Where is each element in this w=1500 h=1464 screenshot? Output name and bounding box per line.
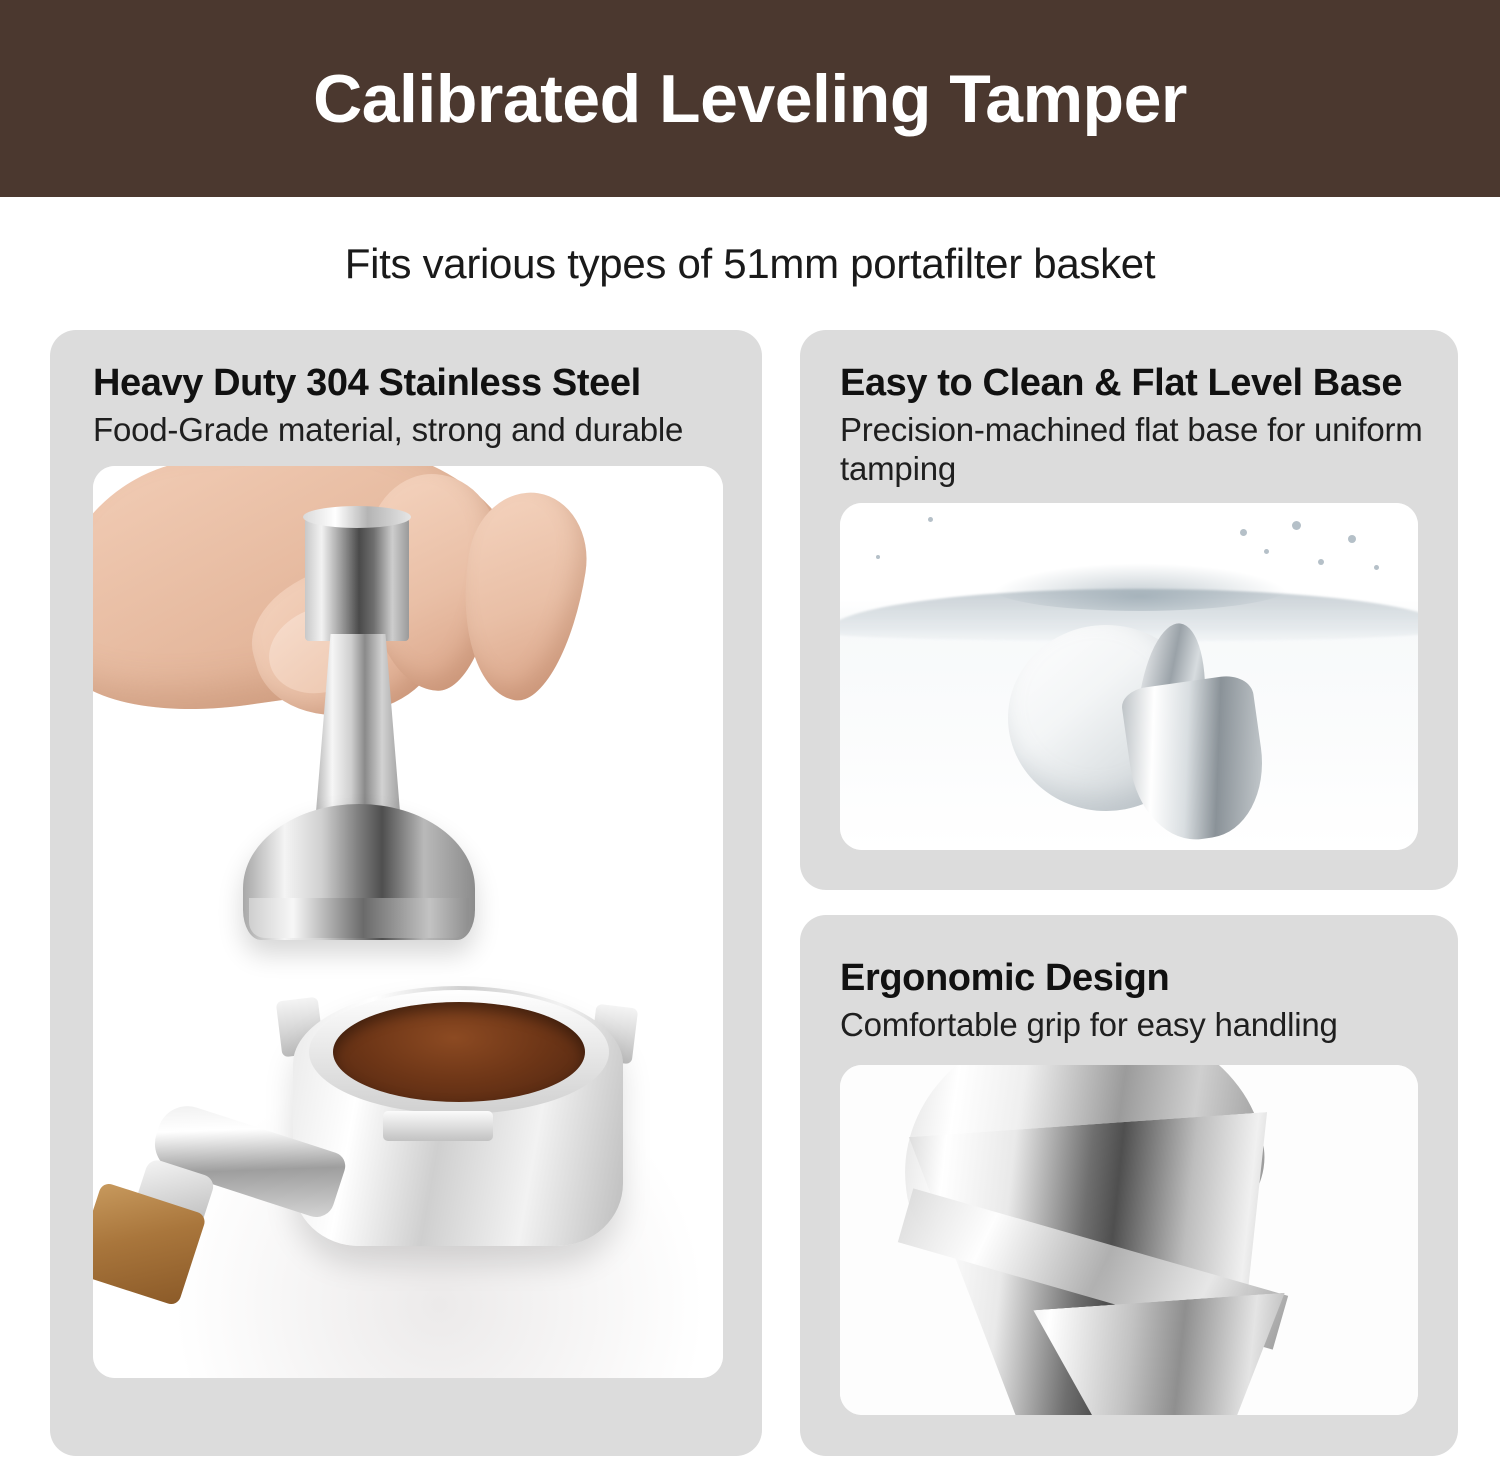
photo-scene-handle	[840, 1065, 1418, 1415]
product-photo-hand-tamper-portafilter	[93, 466, 723, 1378]
feature-card-ergonomic: Ergonomic Design Comfortable grip for ea…	[800, 915, 1458, 1456]
card-subtext: Food-Grade material, strong and durable	[93, 410, 762, 450]
water-droplet	[1318, 559, 1324, 565]
coffee-grounds	[333, 1002, 585, 1102]
portafilter-lug	[383, 1111, 493, 1141]
water-droplet	[1240, 529, 1247, 536]
water-droplet	[1292, 521, 1301, 530]
header-banner: Calibrated Leveling Tamper	[0, 0, 1500, 197]
card-heading: Heavy Duty 304 Stainless Steel	[93, 362, 762, 405]
product-photo-tamper-in-water	[840, 503, 1418, 850]
card-text-block: Easy to Clean & Flat Level Base Precisio…	[800, 330, 1458, 489]
tamper-stem-submerged	[1120, 673, 1273, 848]
product-photo-handle-closeup	[840, 1065, 1418, 1415]
water-crest	[990, 563, 1290, 611]
tamper-base	[243, 804, 475, 940]
subtitle-text: Fits various types of 51mm portafilter b…	[345, 240, 1155, 288]
card-subtext: Precision-machined flat base for uniform…	[840, 410, 1458, 489]
subtitle-row: Fits various types of 51mm portafilter b…	[0, 197, 1500, 330]
photo-scene-left	[93, 466, 723, 1378]
feature-card-heavy-duty: Heavy Duty 304 Stainless Steel Food-Grad…	[50, 330, 762, 1456]
page-title: Calibrated Leveling Tamper	[313, 65, 1187, 133]
card-heading: Ergonomic Design	[840, 957, 1458, 1000]
card-text-block: Heavy Duty 304 Stainless Steel Food-Grad…	[50, 330, 762, 449]
tamper-handle-cap	[305, 513, 409, 641]
water-droplet	[1374, 565, 1379, 570]
card-text-block: Ergonomic Design Comfortable grip for ea…	[800, 915, 1458, 1044]
feature-card-easy-clean: Easy to Clean & Flat Level Base Precisio…	[800, 330, 1458, 890]
photo-scene-water	[840, 503, 1418, 850]
feature-card-grid: Heavy Duty 304 Stainless Steel Food-Grad…	[0, 330, 1500, 1464]
water-droplet	[1348, 535, 1356, 543]
card-heading: Easy to Clean & Flat Level Base	[840, 362, 1458, 405]
water-droplet	[1264, 549, 1269, 554]
card-subtext: Comfortable grip for easy handling	[840, 1005, 1458, 1045]
water-droplet	[876, 555, 880, 559]
water-droplet	[928, 517, 933, 522]
